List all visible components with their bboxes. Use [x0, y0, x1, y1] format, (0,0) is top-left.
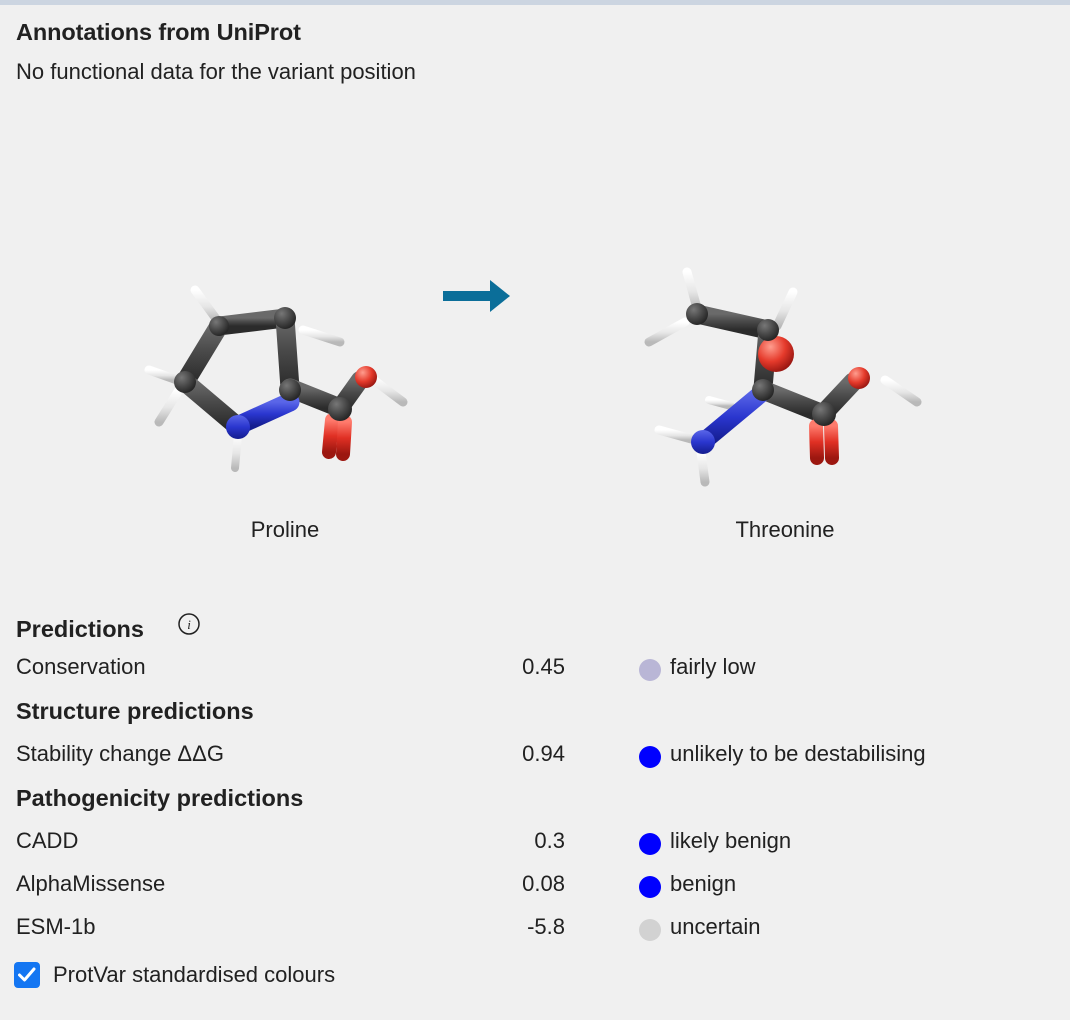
table-row: CADD 0.3 likely benign — [0, 828, 1070, 871]
prediction-verdict: unlikely to be destabilising — [670, 741, 926, 767]
info-icon[interactable]: i — [177, 612, 201, 641]
status-dot — [639, 919, 661, 941]
table-row: AlphaMissense 0.08 benign — [0, 871, 1070, 914]
annotations-title: Annotations from UniProt — [16, 19, 301, 46]
right-arrow-icon — [440, 277, 520, 317]
from-residue-structure — [135, 230, 435, 490]
prediction-value: -5.8 — [365, 914, 565, 940]
status-dot — [639, 746, 661, 768]
protvar-colours-label: ProtVar standardised colours — [53, 962, 335, 988]
prediction-value: 0.45 — [365, 654, 565, 680]
pathogenicity-predictions-heading: Pathogenicity predictions — [16, 785, 303, 812]
prediction-name: ESM-1b — [16, 914, 95, 940]
prediction-verdict: likely benign — [670, 828, 791, 854]
threonine-molecule-icon — [635, 230, 935, 490]
prediction-verdict: benign — [670, 871, 736, 897]
table-row: Conservation 0.45 fairly low — [0, 654, 1070, 697]
prediction-value: 0.08 — [365, 871, 565, 897]
variant-change-arrow — [440, 277, 520, 322]
annotations-message: No functional data for the variant posit… — [16, 59, 416, 85]
prediction-name: AlphaMissense — [16, 871, 165, 897]
prediction-verdict: uncertain — [670, 914, 761, 940]
proline-molecule-icon — [135, 230, 435, 490]
to-residue-structure — [635, 230, 935, 490]
to-residue-label: Threonine — [635, 517, 935, 543]
from-residue-label: Proline — [135, 517, 435, 543]
predictions-header: Predictions i — [0, 610, 1070, 653]
svg-text:i: i — [187, 617, 191, 632]
prediction-name: CADD — [16, 828, 78, 854]
predictions-section: Predictions i Conservation 0.45 fairly l… — [0, 610, 1070, 653]
prediction-verdict: fairly low — [670, 654, 756, 680]
prediction-name: Conservation — [16, 654, 146, 680]
variant-details-panel: Annotations from UniProt No functional d… — [0, 5, 1070, 1020]
status-dot — [639, 876, 661, 898]
table-row: Stability change ΔΔG 0.94 unlikely to be… — [0, 741, 1070, 784]
prediction-name: Stability change ΔΔG — [16, 741, 224, 767]
status-dot — [639, 833, 661, 855]
protvar-colours-checkbox[interactable] — [14, 962, 40, 988]
prediction-value: 0.94 — [365, 741, 565, 767]
table-row: ESM-1b -5.8 uncertain — [0, 914, 1070, 957]
status-dot — [639, 659, 661, 681]
prediction-value: 0.3 — [365, 828, 565, 854]
check-icon — [18, 967, 36, 983]
predictions-heading: Predictions — [16, 616, 144, 643]
structure-predictions-heading: Structure predictions — [16, 698, 254, 725]
protvar-colours-toggle[interactable]: ProtVar standardised colours — [14, 962, 335, 988]
